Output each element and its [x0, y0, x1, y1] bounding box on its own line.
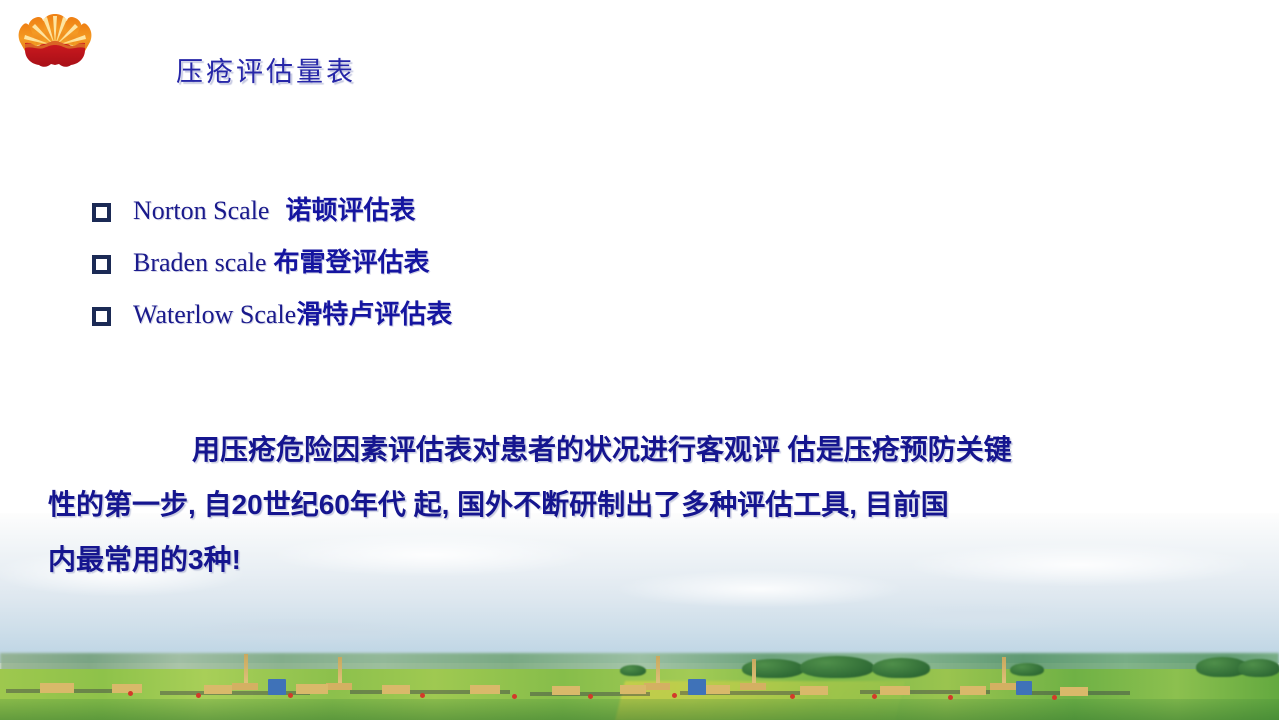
photo-wellhead-marker [588, 694, 593, 699]
photo-wellhead-marker [196, 693, 201, 698]
photo-derrick-base [740, 683, 766, 690]
photo-wellhead-marker [128, 691, 133, 696]
photo-wellhead-marker [948, 695, 953, 700]
list-item-norton-scale[interactable]: Norton Scale 诺顿评估表 [92, 190, 452, 242]
list-item-chinese-label: 诺顿评估表 [285, 190, 415, 227]
photo-pumpjack [960, 686, 986, 695]
photo-tree-cluster [1010, 663, 1044, 676]
photo-pumpjack [620, 685, 646, 694]
page-title: 压疮评估量表 [176, 50, 356, 89]
list-item-english-label: Braden scale [133, 248, 267, 278]
photo-blue-tank [688, 679, 706, 695]
cnpc-petrochina-logo [16, 8, 94, 72]
photo-pumpjack [112, 684, 142, 693]
photo-tree-cluster [620, 665, 646, 676]
photo-tree-cluster [872, 658, 930, 678]
photo-derrick-base [990, 683, 1016, 690]
photo-pumpjack [382, 685, 410, 694]
photo-pumpjack [296, 684, 328, 694]
paragraph-line: 内最常用的3种! [48, 532, 1234, 587]
hollow-square-bullet-icon [92, 307, 111, 326]
list-item-english-label: Norton Scale [133, 196, 269, 226]
list-item-waterlow-scale[interactable]: Waterlow Scale 滑特卢评估表 [92, 294, 452, 346]
photo-pumpjack [1060, 687, 1088, 696]
paragraph-line: 用压疮危险因素评估表对患者的状况进行客观评 估是压疮预防关键 [48, 422, 1234, 477]
photo-derrick-base [326, 683, 352, 690]
photo-pumpjack [552, 686, 580, 695]
photo-pumpjack [880, 686, 910, 695]
photo-field-foreground [0, 699, 1279, 720]
photo-wellhead-marker [1052, 695, 1057, 700]
list-item-chinese-label: 布雷登评估表 [274, 242, 430, 279]
photo-wellhead-marker [790, 694, 795, 699]
photo-derrick-base [644, 683, 670, 690]
hollow-square-bullet-icon [92, 203, 111, 222]
body-paragraph: 用压疮危险因素评估表对患者的状况进行客观评 估是压疮预防关键 性的第一步, 自2… [48, 422, 1234, 587]
paragraph-line: 性的第一步, 自20世纪60年代 起, 国外不断研制出了多种评估工具, 目前国 [48, 477, 1234, 532]
photo-tree-cluster [1238, 659, 1279, 677]
list-item-english-label: Waterlow Scale [133, 300, 296, 330]
photo-pumpjack [40, 683, 74, 693]
photo-derrick-base [232, 683, 258, 690]
photo-wellhead-marker [672, 693, 677, 698]
list-item-braden-scale[interactable]: Braden scale 布雷登评估表 [92, 242, 452, 294]
photo-wellhead-marker [288, 693, 293, 698]
photo-wellhead-marker [872, 694, 877, 699]
slide-canvas: 压疮评估量表 Norton Scale 诺顿评估表 Braden scale 布… [0, 0, 1279, 720]
photo-pumpjack [800, 686, 828, 695]
photo-tree-cluster [800, 656, 874, 678]
photo-pumpjack [470, 685, 500, 694]
photo-pumpjack [204, 685, 232, 694]
photo-wellhead-marker [512, 694, 517, 699]
photo-blue-tank [268, 679, 286, 695]
list-item-chinese-label: 滑特卢评估表 [296, 294, 452, 331]
hollow-square-bullet-icon [92, 255, 111, 274]
scale-list: Norton Scale 诺顿评估表 Braden scale 布雷登评估表 W… [92, 190, 452, 346]
photo-blue-tank [1016, 681, 1032, 695]
photo-wellhead-marker [420, 693, 425, 698]
